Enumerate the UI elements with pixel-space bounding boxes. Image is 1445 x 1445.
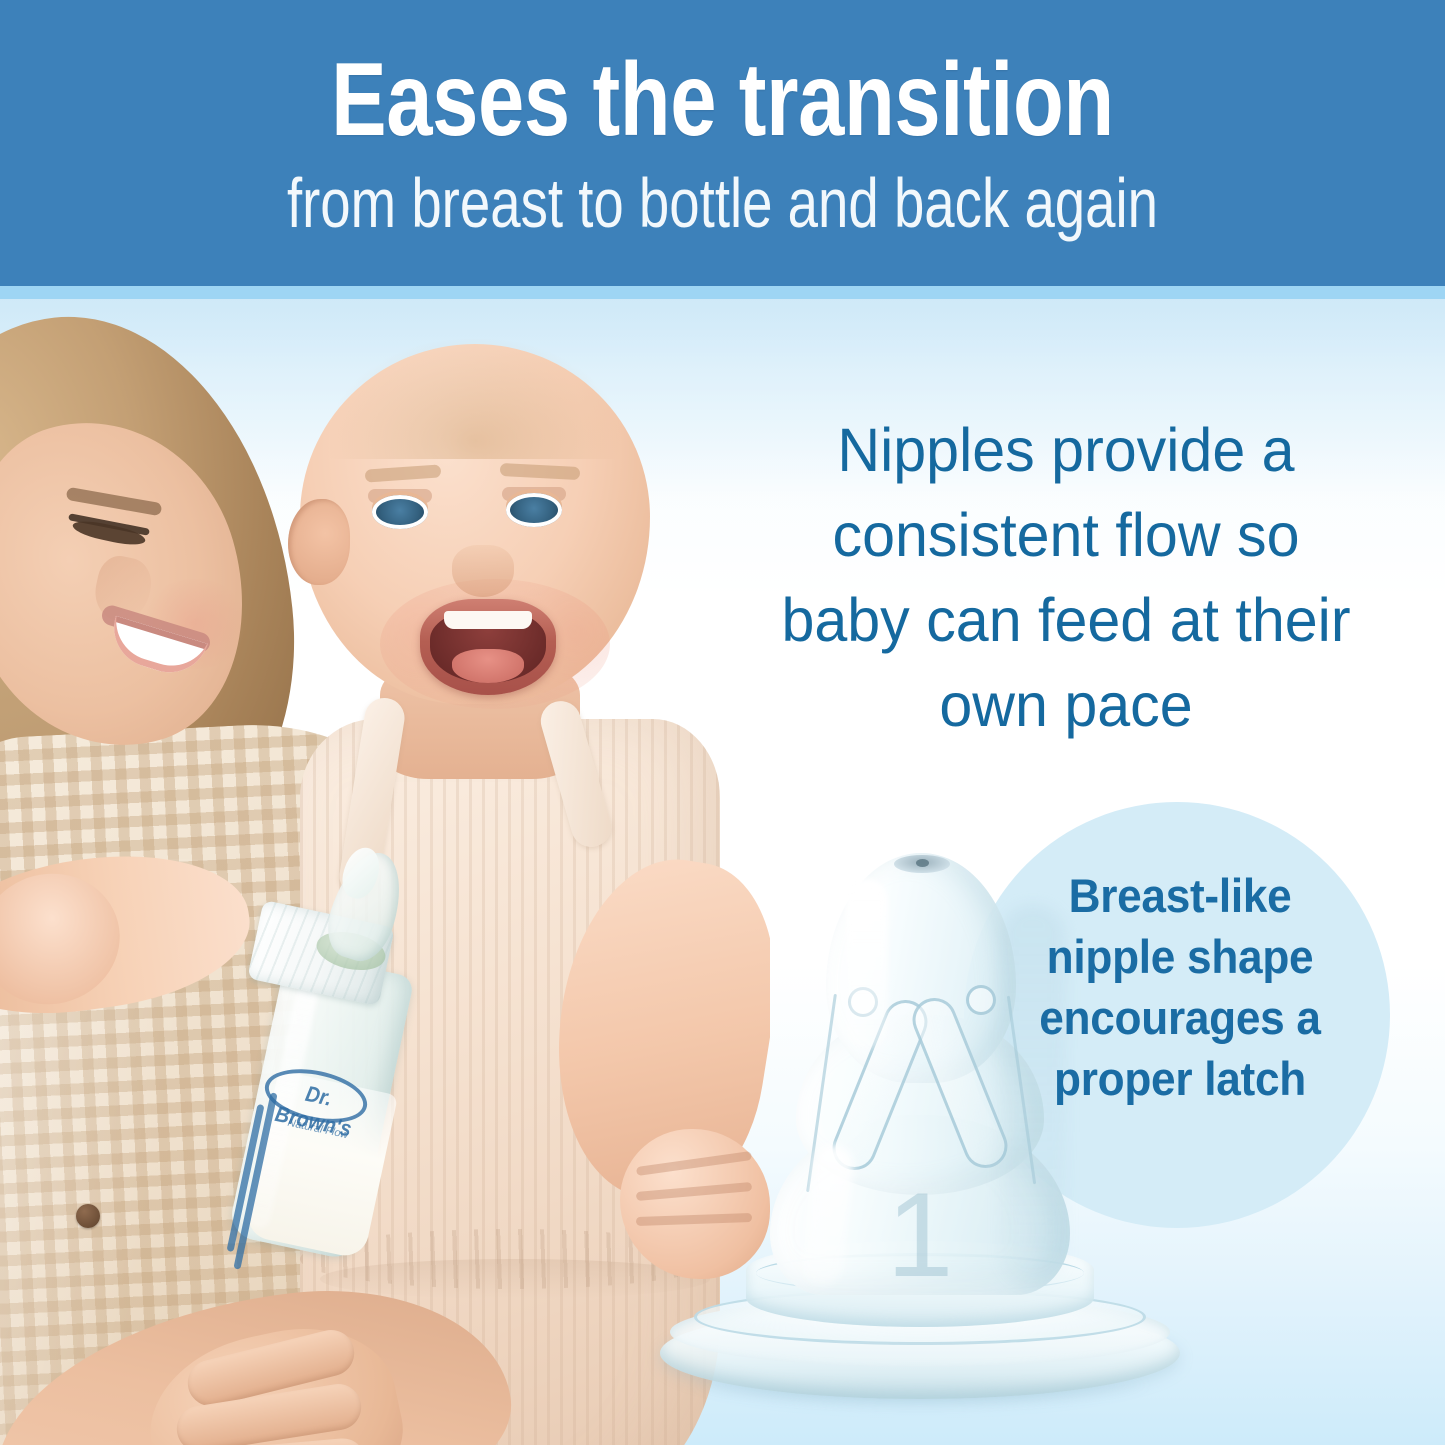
baby-ear — [288, 499, 350, 585]
infographic-canvas: Dr. Brown's Natural Flow Nipples provide… — [0, 0, 1445, 1445]
nipple-dome-highlight — [846, 879, 888, 1049]
header-accent-strip — [0, 286, 1445, 299]
flow-level-marking: 1 — [840, 1175, 1000, 1295]
nipple-rib-loop-right — [966, 985, 996, 1015]
shirt-button — [76, 1204, 100, 1228]
header-banner: Eases the transition from breast to bott… — [0, 0, 1445, 286]
baby-hair — [330, 339, 620, 459]
baby-eye-right — [506, 493, 562, 527]
baby-bottle: Dr. Brown's Natural Flow — [246, 851, 426, 1251]
baby-upper-gum — [444, 611, 532, 629]
page-title: Eases the transition — [145, 48, 1301, 152]
body-copy: Nipples provide a consistent flow so bab… — [769, 408, 1363, 748]
page-subtitle: from breast to bottle and back again — [159, 168, 1286, 238]
baby-eye-left — [372, 495, 428, 529]
callout-text: Breast-like nipple shape encourages a pr… — [1025, 865, 1335, 1109]
nipple-flow-hole-dot — [916, 859, 929, 867]
baby-tongue — [452, 649, 524, 683]
baby-nose — [452, 545, 514, 597]
